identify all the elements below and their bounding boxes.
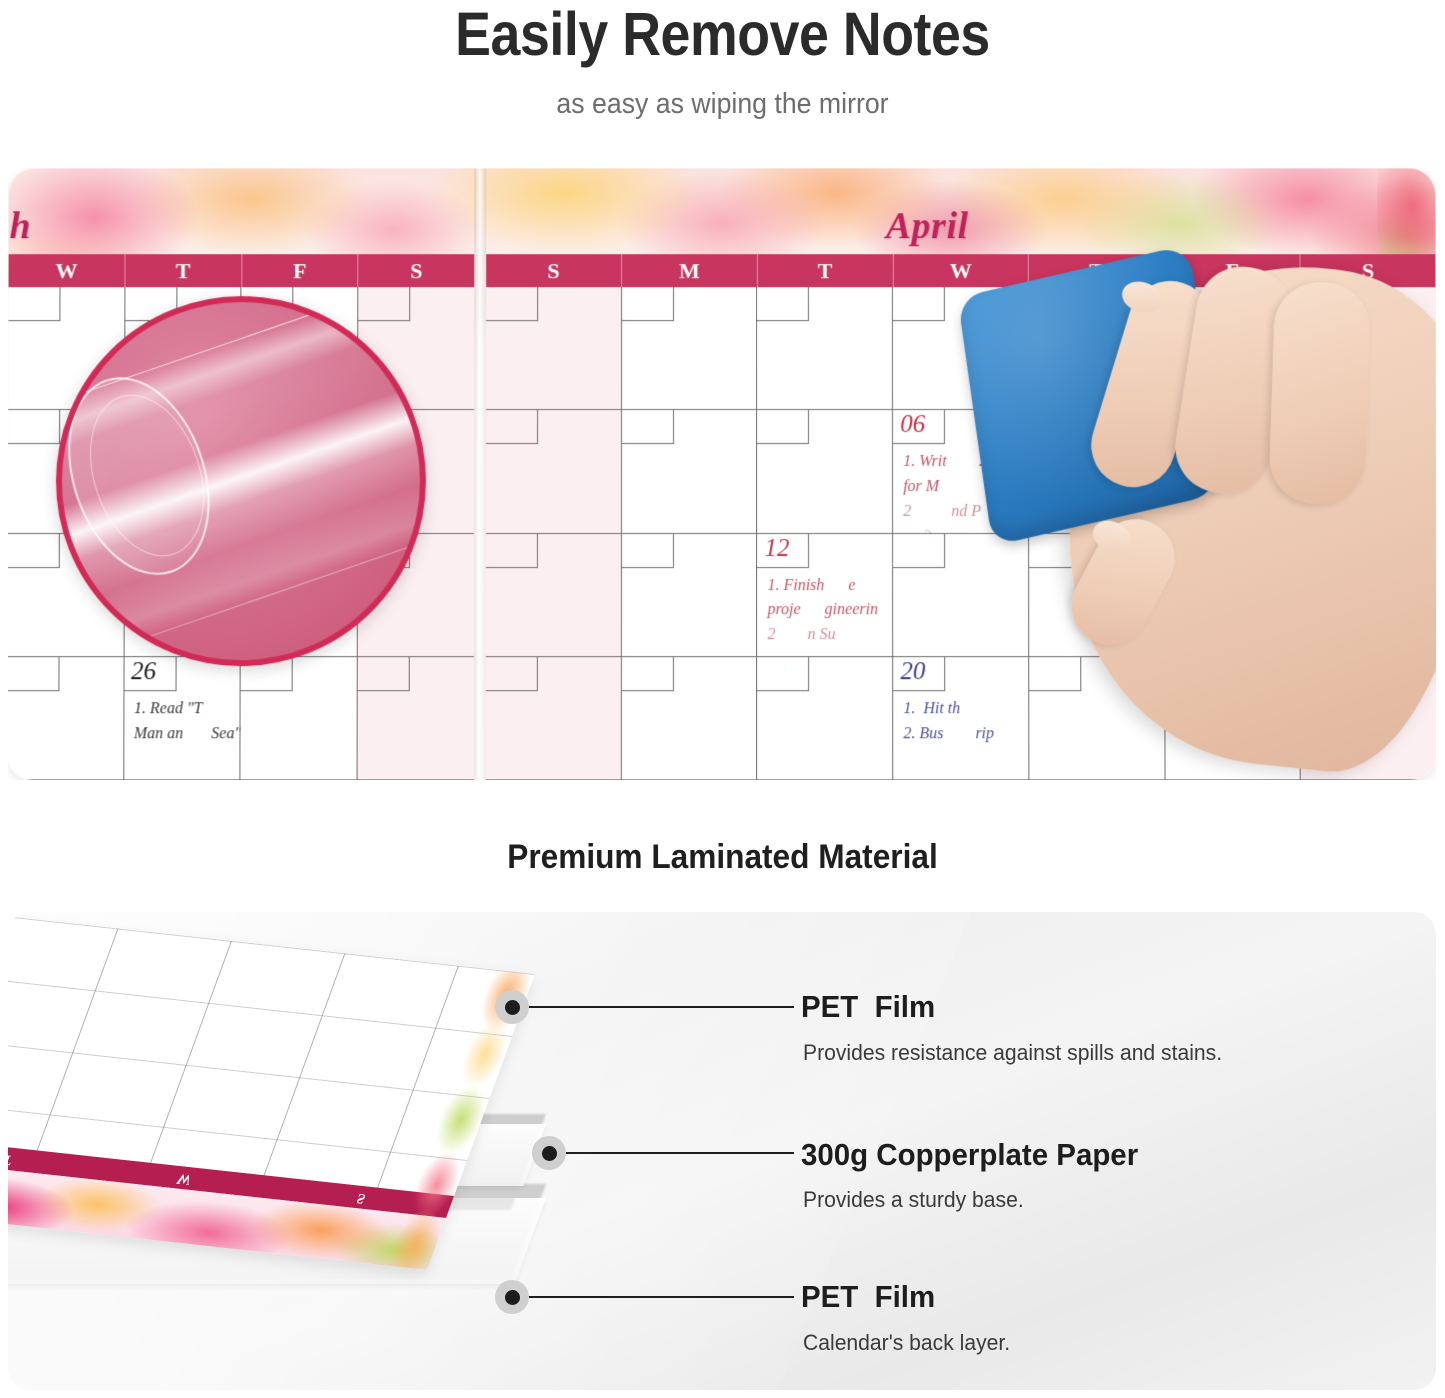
day-cell-weekend[interactable]: [486, 410, 622, 533]
callout-dot-core-icon: [542, 1146, 557, 1161]
dow-cell: T: [125, 254, 242, 287]
callout-dot-icon[interactable]: [495, 990, 529, 1024]
date-box: [8, 534, 60, 568]
layer-description: Calendar's back layer.: [803, 1330, 1010, 1356]
day-cell-26[interactable]: 26 1. Read "T Man an Sea": [124, 657, 241, 780]
finger: [1268, 281, 1371, 506]
day-of-week-bar-march: W T F S: [9, 254, 475, 287]
month-label-april: April: [886, 204, 969, 248]
date-box: [8, 287, 60, 321]
hand-with-eraser: [960, 260, 1436, 780]
calendar-week-row: 26 1. Read "T Man an Sea": [8, 657, 474, 780]
date-box: [486, 287, 538, 321]
calendar-sheet: rch W T F S: [8, 168, 1436, 780]
date-box: [893, 534, 945, 568]
date-box: [622, 410, 674, 444]
date-number: 12: [764, 536, 789, 561]
date-box: [486, 410, 538, 444]
dow-cell: W: [9, 254, 126, 287]
date-number: 26: [131, 659, 156, 684]
note-line: 2 n Su: [767, 623, 886, 648]
headline-block: Easily Remove Notes as easy as wiping th…: [0, 0, 1445, 150]
note-line: 1. Read "T: [134, 697, 234, 722]
date-box: [893, 287, 945, 321]
dow-cell: S: [486, 254, 622, 287]
note-line: 1. Finish e: [767, 574, 886, 599]
page-subtitle: as easy as wiping the mirror: [58, 66, 1387, 121]
day-cell[interactable]: [757, 287, 893, 410]
material-section-title: Premium Laminated Material: [51, 838, 1395, 877]
day-cell-weekend[interactable]: [486, 657, 622, 780]
date-box: [486, 657, 538, 691]
day-cell[interactable]: [622, 657, 758, 780]
day-cell[interactable]: [8, 657, 124, 780]
dow-cell: F: [242, 254, 359, 287]
day-cell[interactable]: [622, 287, 758, 410]
callout-leader-line: [529, 1006, 794, 1008]
callout-dot-icon[interactable]: [495, 1280, 529, 1314]
date-box: [622, 657, 674, 691]
note-line: proje gineerin: [767, 598, 886, 623]
layer-label: PET Film: [801, 989, 935, 1025]
day-cell[interactable]: [622, 410, 758, 533]
date-box: [8, 657, 60, 691]
callout-dot-core-icon: [505, 1000, 520, 1015]
callout-dot-core-icon: [505, 1290, 520, 1305]
date-box: [757, 657, 809, 691]
day-cell-weekend[interactable]: [486, 287, 622, 410]
date-box: [486, 534, 538, 568]
day-cell[interactable]: [622, 534, 758, 657]
date-box: [622, 534, 674, 568]
date-box: [622, 287, 674, 321]
date-box: [8, 410, 60, 444]
day-cell[interactable]: [240, 657, 357, 780]
date-box: [757, 410, 809, 444]
callout-leader-line: [529, 1296, 794, 1298]
layer-description: Provides a sturdy base.: [803, 1187, 1024, 1213]
layer-label: PET Film: [801, 1279, 935, 1315]
layer-label: 300g Copperplate Paper: [801, 1137, 1138, 1173]
month-label-march: rch: [8, 204, 31, 248]
layer-description: Provides resistance against spills and s…: [803, 1040, 1222, 1066]
callout-dot-icon[interactable]: [532, 1136, 566, 1170]
date-box: [357, 657, 409, 691]
day-cell[interactable]: [757, 410, 893, 533]
pet-film-magnifier-inset: [55, 296, 426, 666]
day-cell-weekend[interactable]: [357, 657, 474, 780]
handwritten-note: 1. Read "T Man an Sea": [134, 697, 234, 747]
page-fold-divider: [474, 168, 487, 780]
month-page-march: rch W T F S: [8, 168, 474, 780]
dow-cell: S: [359, 254, 475, 287]
dow-cell: M: [622, 254, 758, 287]
date-number: 06: [900, 412, 925, 437]
callout-leader-line: [566, 1152, 794, 1154]
day-cell-12[interactable]: 12 1. Finish e proje gineerin 2 n Su r: [757, 534, 893, 657]
date-number: 20: [900, 659, 925, 684]
page-title: Easily Remove Notes: [87, 0, 1359, 66]
day-cell-weekend[interactable]: [486, 534, 622, 657]
dow-cell: T: [758, 254, 894, 287]
calendar-photo-panel: rch W T F S: [8, 168, 1436, 780]
note-line: Man an Sea": [134, 722, 234, 747]
date-box: [757, 287, 809, 321]
day-cell[interactable]: [757, 657, 893, 780]
material-layers-panel: T W S PET Film Provides resistance again…: [8, 912, 1436, 1390]
